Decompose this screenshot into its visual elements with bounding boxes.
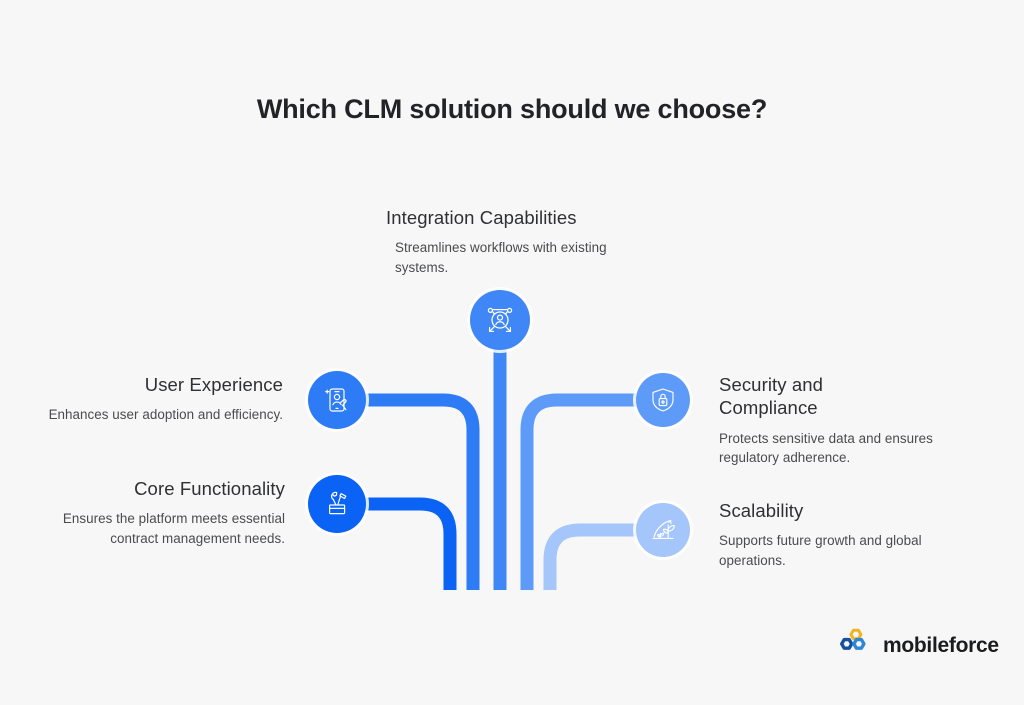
- node-scalability[interactable]: [636, 503, 690, 557]
- description-user-experience: Enhances user adoption and efficiency.: [43, 405, 283, 424]
- node-integration-capabilities[interactable]: [470, 290, 530, 350]
- heading-security-compliance: Security and Compliance: [719, 373, 869, 420]
- mobile-touch-icon: [321, 384, 353, 416]
- page-title: Which CLM solution should we choose?: [0, 94, 1024, 125]
- description-security-compliance: Protects sensitive data and ensures regu…: [719, 429, 945, 467]
- pipe-security-compliance: [527, 400, 663, 590]
- toolbox-icon: [321, 488, 353, 520]
- mobileforce-hexagons-icon: [838, 628, 874, 663]
- heading-core-functionality: Core Functionality: [43, 477, 285, 500]
- network-person-icon: [483, 303, 517, 337]
- text-block-scalability: Scalability Supports future growth and g…: [719, 499, 945, 570]
- description-core-functionality: Ensures the platform meets essential con…: [43, 509, 285, 547]
- node-user-experience[interactable]: [308, 371, 366, 429]
- text-block-security-compliance: Security and Compliance Protects sensiti…: [719, 373, 945, 467]
- description-scalability: Supports future growth and global operat…: [719, 531, 945, 569]
- infographic-canvas: Which CLM solution should we choose?: [0, 0, 1024, 705]
- text-block-user-experience: User Experience Enhances user adoption a…: [43, 373, 283, 425]
- node-security-compliance[interactable]: [636, 373, 690, 427]
- growth-plant-icon: [648, 515, 678, 545]
- text-block-core-functionality: Core Functionality Ensures the platform …: [43, 477, 285, 548]
- text-block-integration-capabilities: Integration Capabilities Streamlines wor…: [386, 206, 618, 277]
- node-core-functionality[interactable]: [308, 475, 366, 533]
- shield-lock-icon: [648, 385, 678, 415]
- heading-scalability: Scalability: [719, 499, 945, 522]
- brand-logo: mobileforce: [838, 628, 999, 663]
- heading-user-experience: User Experience: [43, 373, 283, 396]
- logo-wordmark: mobileforce: [883, 634, 999, 658]
- description-integration-capabilities: Streamlines workflows with existing syst…: [386, 238, 618, 276]
- heading-integration-capabilities: Integration Capabilities: [386, 206, 618, 229]
